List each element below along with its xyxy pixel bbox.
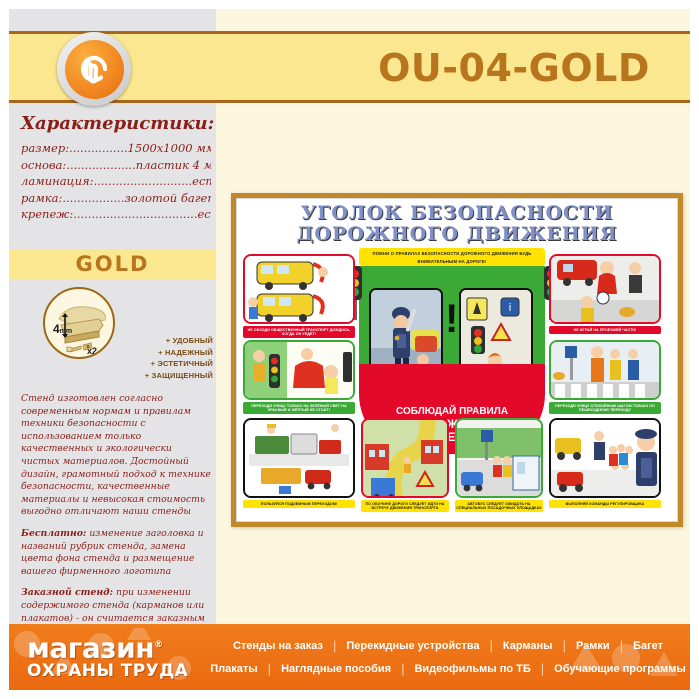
- exclamation-mark: !: [445, 300, 458, 338]
- panel-caption-busstop: АВТОБУС СЛЕДУЕТ ОЖИДАТЬ НА СПЕЦИАЛЬНЫХ П…: [455, 500, 543, 512]
- panel-image-busstop: [455, 418, 543, 498]
- characteristics-heading: Характеристики:: [21, 113, 211, 134]
- center-green-block: ! i: [359, 266, 545, 370]
- panel-caption-bus: НЕ ОБХОДИ ОБЩЕСТВЕННЫЙ ТРАНСПОРТ ДОЖДИСЬ…: [243, 326, 355, 338]
- panel-caption-greenlight: ПЕРЕХОДИ УЛИЦУ ТОЛЬКО НА ЗЕЛЁНЫЙ СВЕТ НА…: [243, 402, 355, 414]
- brand-logo[interactable]: [57, 32, 131, 106]
- footer-nav-row-1: Стенды на заказ | Перекидные устройства …: [217, 634, 679, 657]
- feature-item-2: + ЭСТЕТИЧНЫЙ: [117, 358, 213, 370]
- poster-panel-underpass: ПОЛЬЗУЙСЯ ПОДЗЕМНЫМ ПЕРЕХОДОМ!: [243, 418, 355, 508]
- footer-link-videos[interactable]: Видеофильмы по ТБ: [404, 663, 540, 675]
- frame-thickness-label: 4mm: [53, 322, 72, 336]
- poster-panel-busstop: АВТОБУС СЛЕДУЕТ ОЖИДАТЬ НА СПЕЦИАЛЬНЫХ П…: [455, 418, 543, 512]
- feature-item-3: + ЗАЩИЩЕННЫЙ: [117, 370, 213, 382]
- poster-panel-bus: НЕ ОБХОДИ ОБЩЕСТВЕННЫЙ ТРАНСПОРТ ДОЖДИСЬ…: [243, 254, 355, 338]
- poster-panel-roadside: ПО ОБОЧИНЕ ДОРОГИ СЛЕДУЕТ ИДТИ НА ВСТРЕЧ…: [361, 418, 449, 512]
- panel-caption-regulator: ВЫПОЛНЯЙ КОМАНДЫ РЕГУЛИРОВЩИКА: [549, 500, 661, 508]
- center-header-text: ПОМНИ О ПРАВИЛАХ БЕЗОПАСНОСТИ ДОРОЖНОГО …: [359, 248, 545, 266]
- poster-title: УГОЛОК БЕЗОПАСНОСТИ ДОРОЖНОГО ДВИЖЕНИЯ: [241, 203, 673, 245]
- poster-panel-greenlight: ПЕРЕХОДИ УЛИЦУ ТОЛЬКО НА ЗЕЛЁНЫЙ СВЕТ НА…: [243, 340, 355, 414]
- poster-panel-noplay: НЕ ИГРАЙ НА ПРОЕЗЖЕЙ ЧАСТИ!: [549, 254, 661, 334]
- characteristics-block: Характеристики: размер:................1…: [21, 113, 211, 223]
- feature-item-0: + УДОБНЫЙ: [117, 335, 213, 347]
- panel-image-greenlight: [243, 340, 355, 400]
- panel-caption-crosswalk: ПЕРЕХОДИ УЛИЦУ СПОКОЙНЫМ ШАГОМ ТОЛЬКО ПО…: [549, 402, 661, 414]
- footer-nav-row-2: Плакаты | Наглядные пособия | Видеофильм…: [217, 657, 679, 680]
- description-paragraph-free: Бесплатно: изменение заголовка и названи…: [21, 528, 211, 578]
- char-row-base: основа:...................пластик 4 мм: [21, 157, 211, 174]
- magazin-m-logo-icon: [65, 40, 124, 99]
- poster-title-line2: ДОРОЖНОГО ДВИЖЕНИЯ: [241, 224, 673, 245]
- footer-link-posters[interactable]: Плакаты: [200, 663, 267, 675]
- poster-title-line1: УГОЛОК БЕЗОПАСНОСТИ: [241, 203, 673, 224]
- char-row-frame: рамка:.................золотой багет: [21, 190, 211, 207]
- footer-link-flip-systems[interactable]: Перекидные устройства: [336, 640, 489, 652]
- svg-text:i: i: [508, 301, 511, 314]
- poster-panel-crosswalk: ПЕРЕХОДИ УЛИЦУ СПОКОЙНЫМ ШАГОМ ТОЛЬКО ПО…: [549, 340, 661, 414]
- footer-link-custom-stands[interactable]: Стенды на заказ: [223, 640, 333, 652]
- char-row-size: размер:................1500x1000 мм: [21, 140, 211, 157]
- footer-link-visual-aids[interactable]: Наглядные пособия: [271, 663, 401, 675]
- footer-brand[interactable]: магазин® ОХРАНЫ ТРУДА: [27, 632, 203, 681]
- gold-label-bar: GOLD: [9, 249, 216, 279]
- panel-image-roadside: [361, 418, 449, 498]
- product-poster-preview[interactable]: УГОЛОК БЕЗОПАСНОСТИ ДОРОЖНОГО ДВИЖЕНИЯ П…: [231, 193, 683, 527]
- panel-caption-noplay: НЕ ИГРАЙ НА ПРОЕЗЖЕЙ ЧАСТИ!: [549, 326, 661, 334]
- panel-image-underpass: [243, 418, 355, 498]
- panel-caption-underpass: ПОЛЬЗУЙСЯ ПОДЗЕМНЫМ ПЕРЕХОДОМ!: [243, 500, 355, 508]
- site-footer: магазин® ОХРАНЫ ТРУДА Стенды на заказ | …: [9, 624, 690, 690]
- page-root: OU-04-GOLD Характеристики: размер:......…: [0, 0, 699, 699]
- panel-image-regulator: [549, 418, 661, 498]
- gold-feature-list: + УДОБНЫЙ + НАДЕЖНЫЙ + ЭСТЕТИЧНЫЙ + ЗАЩИ…: [117, 335, 213, 381]
- poster-canvas: УГОЛОК БЕЗОПАСНОСТИ ДОРОЖНОГО ДВИЖЕНИЯ П…: [236, 198, 678, 522]
- footer-link-frames[interactable]: Рамки: [566, 640, 620, 652]
- char-row-lamination: ламинация:...........................ест…: [21, 173, 211, 190]
- footer-brand-line2: ОХРАНЫ ТРУДА: [27, 661, 203, 681]
- page-inner: OU-04-GOLD Характеристики: размер:......…: [9, 9, 690, 690]
- poster-panel-regulator: ВЫПОЛНЯЙ КОМАНДЫ РЕГУЛИРОВЩИКА: [549, 418, 661, 508]
- panel-image-noplay: [549, 254, 661, 324]
- page-title: OU-04-GOLD: [349, 45, 679, 93]
- panel-image-bus: [243, 254, 355, 324]
- mount-count-label: x2: [87, 346, 97, 356]
- panel-image-crosswalk: [549, 340, 661, 400]
- frame-profile-illustration: 4mm x2: [43, 287, 115, 359]
- description-paragraph-main: Стенд изготовлен согласно современным но…: [21, 393, 211, 519]
- poster-grid: ПОМНИ О ПРАВИЛАХ БЕЗОПАСНОСТИ ДОРОЖНОГО …: [241, 248, 673, 518]
- footer-link-training-programs[interactable]: Обучающие программы: [544, 663, 690, 675]
- footer-link-pockets[interactable]: Карманы: [493, 640, 563, 652]
- panel-caption-roadside: ПО ОБОЧИНЕ ДОРОГИ СЛЕДУЕТ ИДТИ НА ВСТРЕЧ…: [361, 500, 449, 512]
- footer-brand-line1: магазин®: [27, 632, 203, 661]
- footer-link-baguette[interactable]: Багет: [623, 640, 673, 652]
- feature-item-1: + НАДЕЖНЫЙ: [117, 347, 213, 359]
- footer-nav: Стенды на заказ | Перекидные устройства …: [217, 634, 679, 680]
- char-row-mount: крепеж:.................................…: [21, 206, 211, 223]
